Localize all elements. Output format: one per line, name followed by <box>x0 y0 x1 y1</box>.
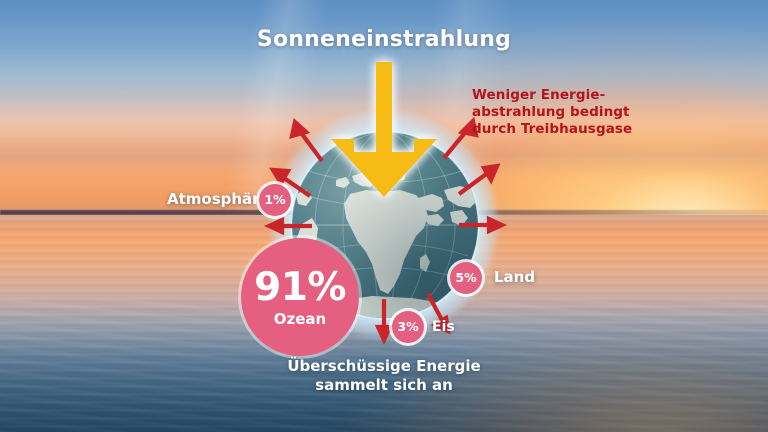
incoming-solar-arrow <box>331 62 437 197</box>
excess-energy-note: Überschüssige Energie sammelt sich an <box>234 357 534 395</box>
badge-atmosphere: 1% <box>259 184 291 216</box>
label-eis: Eis <box>432 319 455 335</box>
badge-atmosphere-value: 1% <box>264 194 285 207</box>
badge-ozean: 91% Ozean <box>241 238 359 356</box>
badge-eis-value: 3% <box>397 321 418 334</box>
excess-energy-line-2: sammelt sich an <box>234 376 534 395</box>
greenhouse-gas-note: Weniger Energie- abstrahlung bedingt dur… <box>472 87 687 138</box>
badge-ozean-value: 91% <box>254 268 346 307</box>
excess-energy-line-1: Überschüssige Energie <box>234 357 534 376</box>
label-atmosphere: Atmosphäre <box>167 190 270 208</box>
ghg-note-line-1: Weniger Energie- <box>472 87 687 104</box>
arrow-nw-upper <box>292 122 322 161</box>
ghg-note-line-3: durch Treibhausgase <box>472 121 687 138</box>
arrow-s <box>378 299 390 340</box>
arrow-e <box>459 219 502 231</box>
badge-land-value: 5% <box>455 272 476 285</box>
badge-land: 5% <box>450 262 482 294</box>
infographic-climate-energy-balance: Sonneneinstrahlung <box>0 0 768 432</box>
infographic-foreground: Sonneneinstrahlung <box>0 0 768 432</box>
arrow-e-upper <box>459 166 497 194</box>
ghg-note-line-2: abstrahlung bedingt <box>472 104 687 121</box>
badge-ozean-label: Ozean <box>274 312 326 327</box>
label-land: Land <box>494 268 535 286</box>
badge-eis: 3% <box>392 311 424 343</box>
arrow-w <box>269 220 312 232</box>
